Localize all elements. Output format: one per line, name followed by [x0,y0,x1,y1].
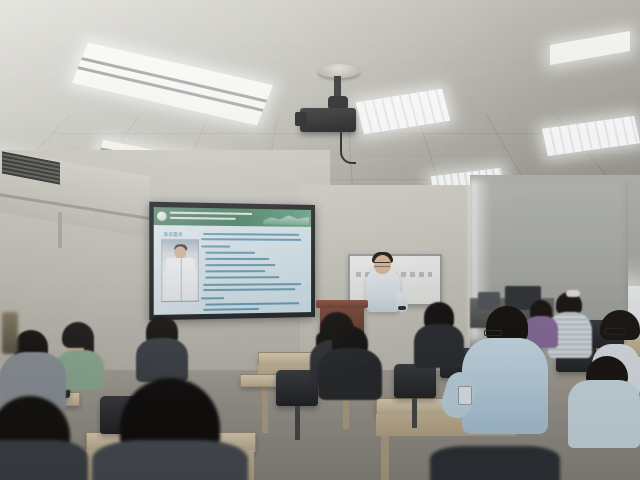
wristwatch-icon [398,306,406,310]
slide-presenter-photo [161,239,199,302]
hair [486,306,528,342]
lectern-top [316,300,368,308]
presentation-slide: 演讲嘉宾 [154,207,311,315]
chair-post [295,406,300,440]
classroom-photo: 演讲嘉宾 [0,0,640,480]
desk-leg [381,436,389,480]
thermos-flask [2,312,18,354]
photo-white-coat [166,258,195,301]
slide-header-graphic [263,211,309,225]
ceiling-projector [300,108,356,132]
desk-leg [262,381,268,433]
slide-text-line [203,308,259,311]
slide-text-line [201,297,224,299]
presenter-body [366,268,400,312]
slide-header-line-2 [170,217,236,220]
slide-logo-icon [157,211,167,221]
slide-header-line-1 [170,212,252,215]
hair-clip-icon [566,290,580,297]
chair [394,364,436,398]
slide-section-title: 演讲嘉宾 [163,231,182,237]
slide-text-line [205,270,265,272]
slide-text-line [203,288,295,291]
projector-lens-icon [295,112,307,126]
slide-header-band [154,207,311,227]
glasses-icon [484,330,502,336]
slide-text-line [205,258,269,260]
slide-text-line [201,245,230,247]
slide-text-line [203,283,301,286]
glasses-icon [604,328,626,335]
projector-cable [340,130,356,164]
chair-post [412,398,417,428]
slide-text-line [203,233,299,236]
smartphone-icon [458,386,472,405]
glasses-icon [374,262,390,267]
slide-text-line [205,302,299,305]
slide-text-line [201,238,301,241]
slide-text-line [205,276,279,278]
slide-text-line [205,264,275,266]
slide-text-line [205,252,255,254]
projection-screen: 演讲嘉宾 [149,202,315,321]
wall-pipe [58,212,62,248]
projector-pole [334,76,341,98]
